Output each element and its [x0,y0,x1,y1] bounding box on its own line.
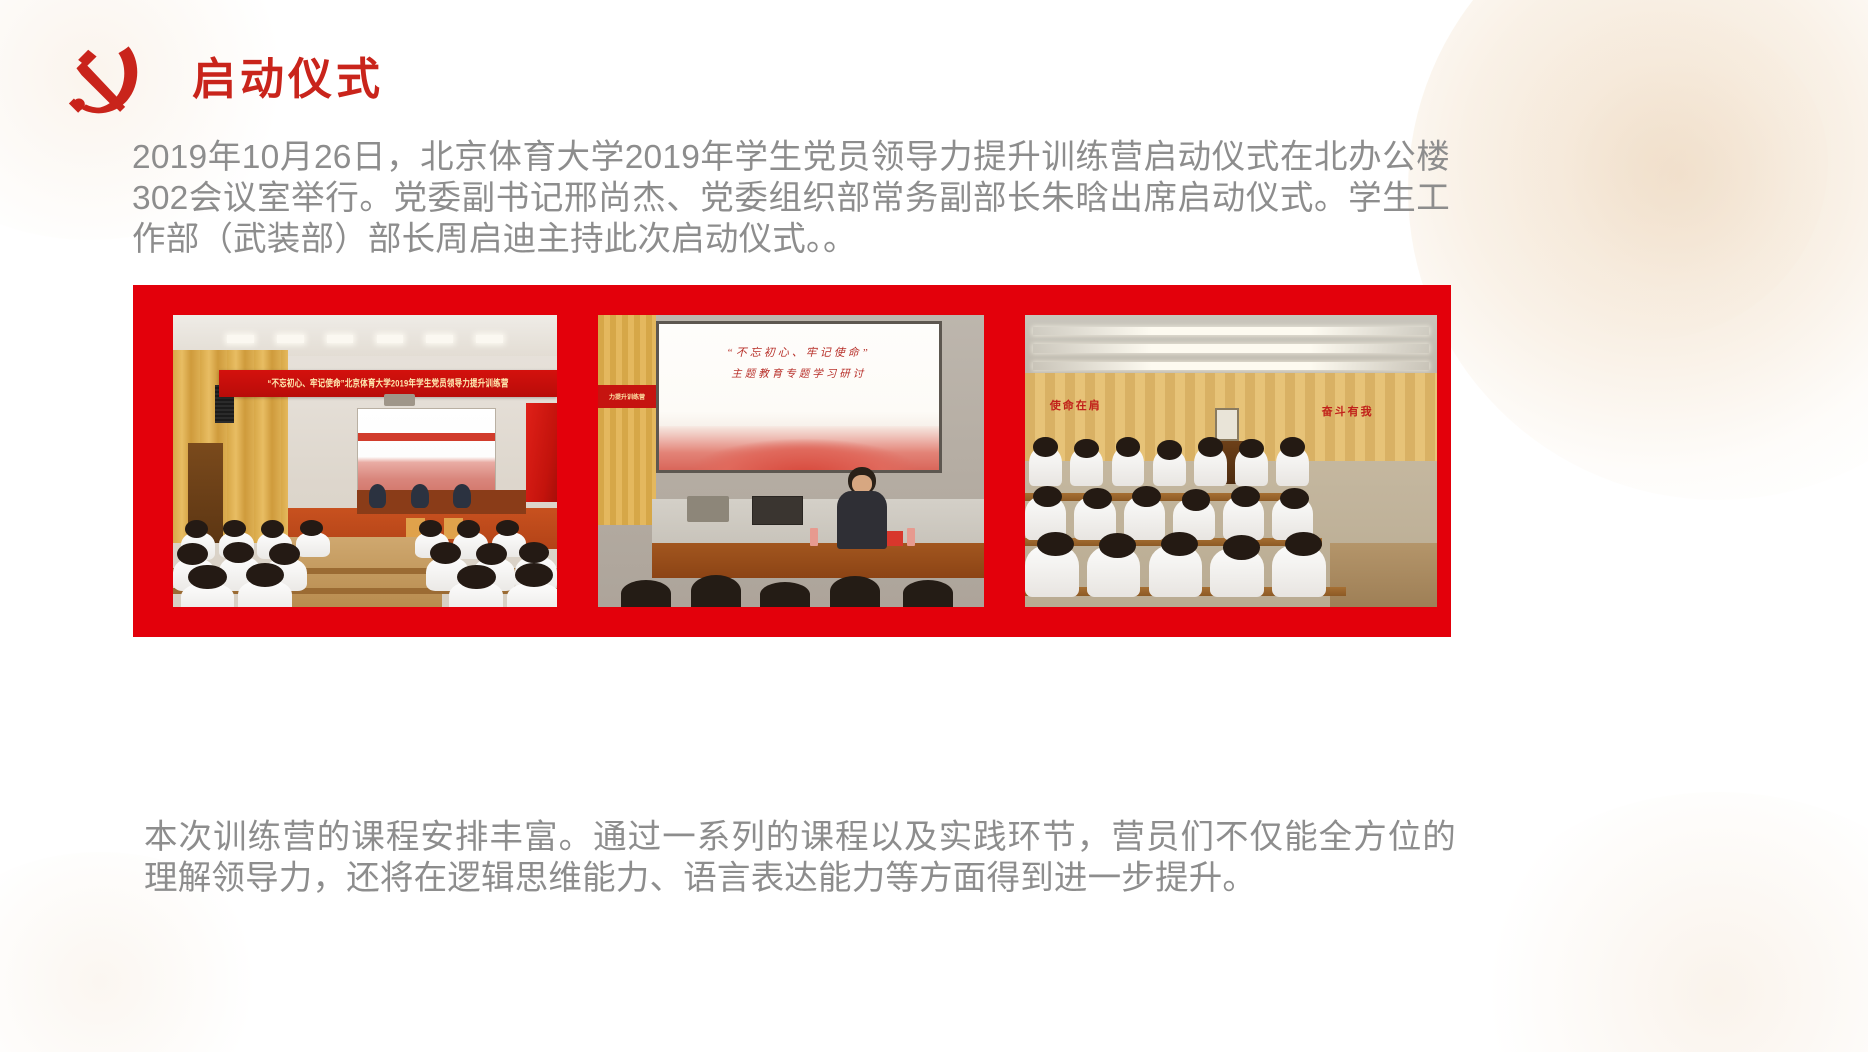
trainee-head [269,543,300,565]
photo-collage: “不忘初心、牢记使命”北京体育大学2019年学生党员领导力提升训练营 [133,285,1451,637]
side-banner-text: 力提升训练营 [598,385,656,408]
trainee-head [1285,532,1322,557]
trainee-head [1182,489,1211,510]
background-wash-top-right [1408,0,1868,500]
projector-box [384,394,415,406]
trainee-head [177,543,208,565]
screen-red-hill-graphic [659,426,939,470]
ceiling-light [426,335,453,343]
audience-area [1025,443,1437,607]
trainee-head [1099,533,1136,558]
trainee-head [1132,486,1161,507]
trainee-head [1280,437,1305,457]
trainee-head [223,542,254,563]
trainee-head [1157,440,1182,460]
screen-red-band [358,433,494,441]
slide-canvas: 启动仪式 2019年10月26日，北京体育大学2019年学生党员领导力提升训练营… [0,0,1868,1052]
trainee-head [476,543,507,565]
trainee-head [457,565,495,589]
ceiling-light [227,335,254,343]
wall-slogan-left: 使命在肩 [1050,397,1102,413]
wall-slogan-right: 奋斗有我 [1322,403,1374,419]
trainee-head [1116,437,1141,457]
photo-opening-ceremony-hall[interactable]: “不忘初心、牢记使命”北京体育大学2019年学生党员领导力提升训练营 [173,315,557,607]
audience-area [173,496,557,607]
trainee-head [1074,439,1099,459]
photo-speaker-at-podium[interactable]: 力提升训练营 “不忘初心、牢记使命” 主题教育专题学习研讨 [598,315,984,607]
trainee-head [1280,488,1309,509]
trainee-head [1083,488,1112,509]
ceiling-light-beam [1033,344,1429,353]
projection-screen: “不忘初心、牢记使命” 主题教育专题学习研讨 [656,321,942,473]
trainee-head [1223,535,1260,560]
trainee-head [496,520,519,536]
screen-calligraphy-line-2: 主题教育专题学习研讨 [659,366,939,381]
trainee-head [1239,439,1264,459]
trainee-head [1161,532,1198,557]
ceiling-light [476,335,503,343]
trainee-head [1231,486,1260,507]
page-title: 启动仪式 [192,58,384,102]
ceiling-light-beam [1033,327,1429,336]
trainee-head [515,563,553,587]
water-bottle [907,528,915,546]
ceiling-light [327,335,354,343]
audience-head [830,576,880,607]
audience-head [691,575,741,607]
event-banner: “不忘初心、牢记使命”北京体育大学2019年学生党员领导力提升训练营 [219,370,557,396]
desk-monitor [752,496,802,525]
trainee-head [519,542,550,563]
speaker-face [852,475,872,493]
screen-calligraphy: “不忘初心、牢记使命” 主题教育专题学习研讨 [659,344,939,381]
intro-paragraph: 2019年10月26日，北京体育大学2019年学生党员领导力提升训练营启动仪式在… [132,137,1450,260]
trainee-head [188,565,226,589]
ceiling-light [377,335,404,343]
slide-header: 启动仪式 [62,38,384,122]
trainee-head [430,542,461,564]
ceiling-light-beam [1033,362,1429,371]
front-row-audience [598,572,984,607]
wall-plaque [1215,408,1240,440]
background-texture-blob [1498,10,1828,340]
water-bottle [810,528,818,546]
ceiling-light [277,335,304,343]
trainee-head [223,520,246,537]
speaker-person [837,467,887,549]
wood-panel-wall [598,315,656,525]
audience-head [760,582,810,607]
speaker-torso [837,491,887,548]
trainee-head [1198,437,1223,457]
outro-paragraph: 本次训练营的课程安排丰富。通过一系列的课程以及实践环节，营员们不仅能全方位的理解… [144,817,1456,899]
trainee-head [1033,437,1058,457]
national-flag [526,403,557,502]
trainee-head [300,520,323,536]
audience-head [903,580,953,607]
screen-calligraphy-line-1: “不忘初心、牢记使命” [659,344,939,360]
photo-seated-trainees[interactable]: 使命在肩 奋斗有我 [1025,315,1437,607]
trainee-head [185,520,208,538]
party-emblem-hammer-sickle-icon [62,38,148,122]
audience-head [621,580,671,607]
side-banner: 力提升训练营 [598,385,656,408]
trainee-head [246,563,284,587]
trainee-head [419,520,442,537]
background-wash-bottom-right [1458,792,1868,1052]
microphone-unit [687,496,729,522]
